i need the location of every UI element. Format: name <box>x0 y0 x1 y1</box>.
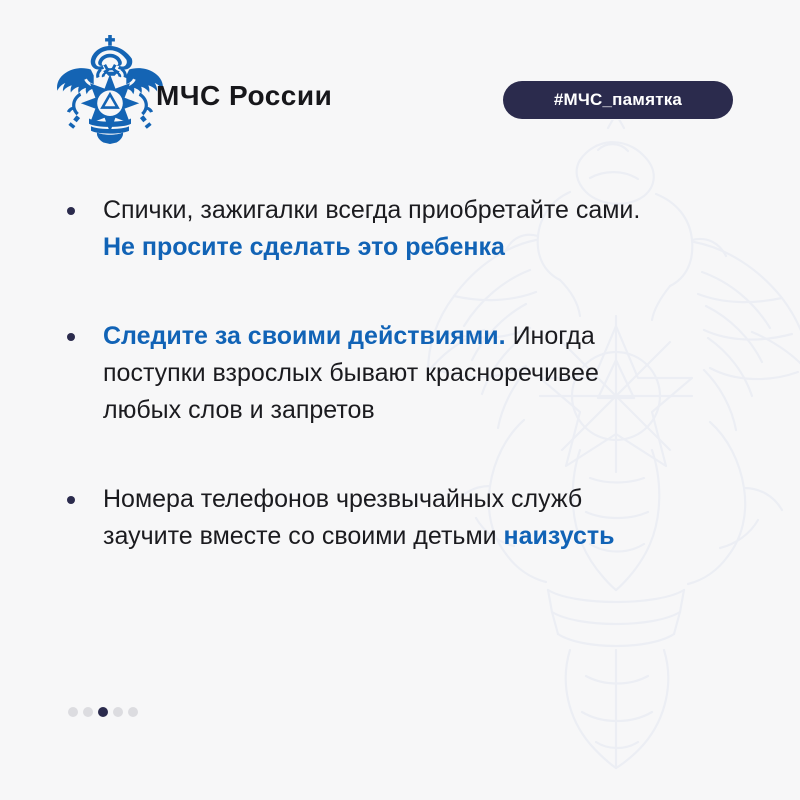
bullet-dot-icon <box>67 333 75 341</box>
pagination-dot-1[interactable] <box>68 707 78 717</box>
bullet-list: Спички, зажигалки всегда приобретайте са… <box>0 192 700 555</box>
list-item-text-accent: наизусть <box>504 522 615 550</box>
list-item-text: Номера телефонов чрезвычайных служб зауч… <box>103 481 663 555</box>
list-item-text-accent: Не просите сделать это ребенка <box>103 233 505 261</box>
list-item: Следите за своими действиями. Иногда пос… <box>0 318 700 429</box>
list-item-text-accent: Следите за своими действиями. <box>103 322 506 350</box>
pagination-dot-5[interactable] <box>128 707 138 717</box>
pagination-dot-2[interactable] <box>83 707 93 717</box>
list-item-text-plain: Спички, зажигалки всегда приобретайте са… <box>103 196 640 224</box>
pagination-dots[interactable] <box>68 707 138 717</box>
bullet-dot-icon <box>67 496 75 504</box>
bullet-dot-icon <box>67 207 75 215</box>
page-title: МЧС России <box>156 80 332 112</box>
header: МЧС России #МЧС_памятка <box>0 0 800 150</box>
list-item: Номера телефонов чрезвычайных служб зауч… <box>0 481 700 555</box>
hashtag-badge-label: #МЧС_памятка <box>554 90 682 110</box>
emercom-eagle-emblem-icon <box>56 34 164 144</box>
pagination-dot-3[interactable] <box>98 707 108 717</box>
list-item: Спички, зажигалки всегда приобретайте са… <box>0 192 700 266</box>
hashtag-badge[interactable]: #МЧС_памятка <box>503 81 733 119</box>
list-item-text: Следите за своими действиями. Иногда пос… <box>103 318 663 429</box>
list-item-text: Спички, зажигалки всегда приобретайте са… <box>103 192 663 266</box>
pagination-dot-4[interactable] <box>113 707 123 717</box>
infographic-card: МЧС России #МЧС_памятка Спички, зажигалк… <box>0 0 800 800</box>
